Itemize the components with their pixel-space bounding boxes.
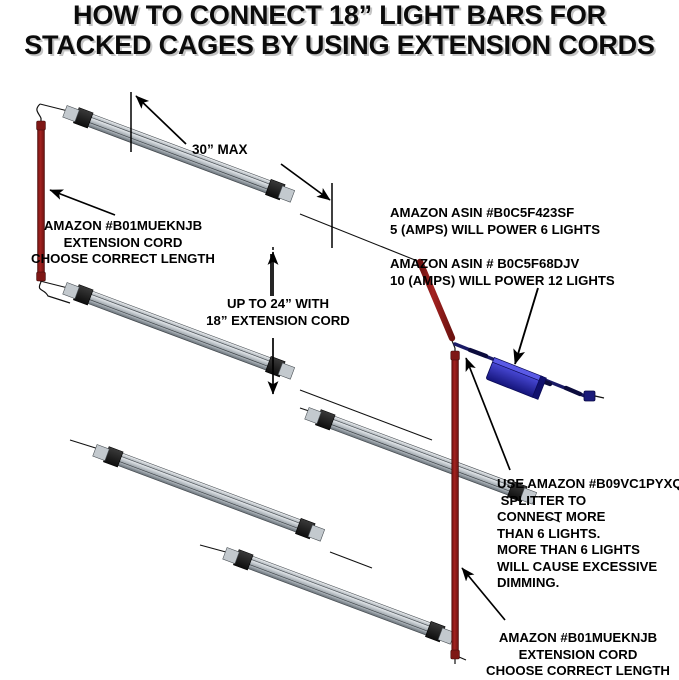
adapter-plug-tip [584, 391, 604, 401]
annotation-splitter-note: USE AMAZON #B09VC1PYXQ SPLITTER TO CONNE… [497, 476, 679, 592]
splitter-body [486, 358, 547, 400]
power-splitter-assembly [455, 344, 604, 401]
annotation-right-extension-cord: AMAZON #B01MUEKNJB EXTENSION CORD CHOOSE… [478, 630, 678, 680]
light-bar-5 [200, 545, 466, 660]
light-bar-3 [70, 440, 372, 568]
leader-left-cord [50, 190, 115, 215]
annotation-asin-5amp: AMAZON ASIN #B0C5F423SF 5 (AMPS) WILL PO… [390, 205, 670, 238]
leader-asin-to-splitter [515, 288, 538, 364]
annotation-asin-10amp: AMAZON ASIN # B0C5F68DJV 10 (AMPS) WILL … [390, 256, 679, 289]
label-30-max: 30” MAX [192, 142, 248, 157]
extension-cord-left [37, 104, 70, 303]
diagram-canvas: HOW TO CONNECT 18” LIGHT BARS FOR STACKE… [0, 0, 679, 680]
annotation-left-extension-cord: AMAZON #B01MUEKNJB EXTENSION CORD CHOOSE… [0, 218, 248, 268]
annotation-vertical-gap: UP TO 24” WITH 18” EXTENSION CORD [168, 296, 388, 329]
